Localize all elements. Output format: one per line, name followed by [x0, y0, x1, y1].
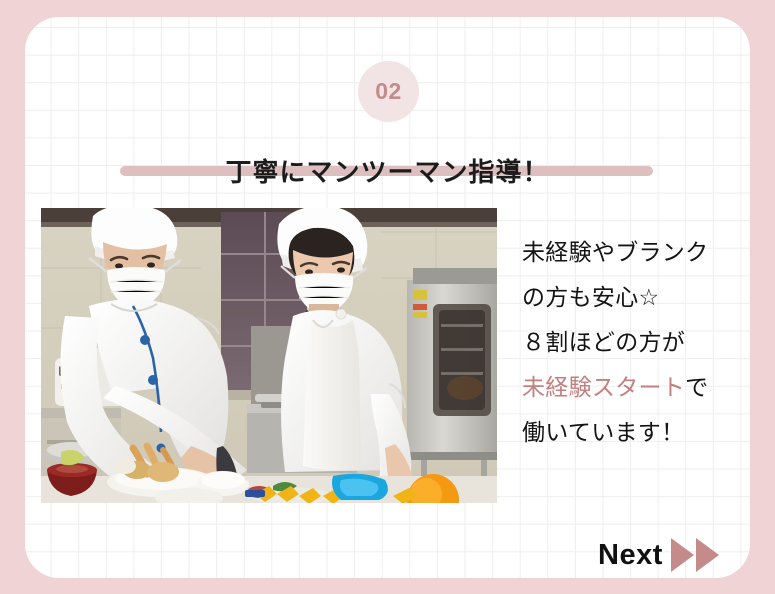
copy-line-2: の方も安心☆: [522, 276, 750, 321]
photo-illustration: [41, 208, 497, 503]
next-arrows: [671, 538, 719, 572]
page-title: 丁寧にマンツーマン指導！: [25, 152, 750, 189]
step-number-label: 02: [375, 78, 402, 105]
copy-line-4: 未経験スタートで: [522, 366, 750, 411]
copy-line-5-text: 働いています！: [522, 420, 684, 446]
next-button-label: Next: [598, 539, 663, 572]
copy-line-1-text: 未経験やブランク: [522, 240, 708, 266]
copy-line-4-suffix: で: [685, 375, 708, 401]
copy-line-4-highlight: 未経験スタート: [522, 375, 685, 401]
triangle-right-icon: [696, 538, 719, 572]
next-button[interactable]: Next: [598, 538, 719, 572]
step-number-badge: 02: [358, 61, 419, 122]
copy-line-1: 未経験やブランク: [522, 231, 750, 276]
kitchen-training-photo: [41, 208, 497, 503]
copy-line-2-text: の方も安心☆: [522, 285, 659, 311]
body-copy: 未経験やブランク の方も安心☆ ８割ほどの方が 未経験スタートで 働いています！: [522, 231, 750, 456]
copy-line-3: ８割ほどの方が: [522, 321, 750, 366]
copy-line-3-text: ８割ほどの方が: [522, 330, 685, 356]
content-card: 02 丁寧にマンツーマン指導！: [25, 17, 750, 578]
triangle-right-icon: [671, 538, 694, 572]
copy-line-5: 働いています！: [522, 411, 750, 456]
